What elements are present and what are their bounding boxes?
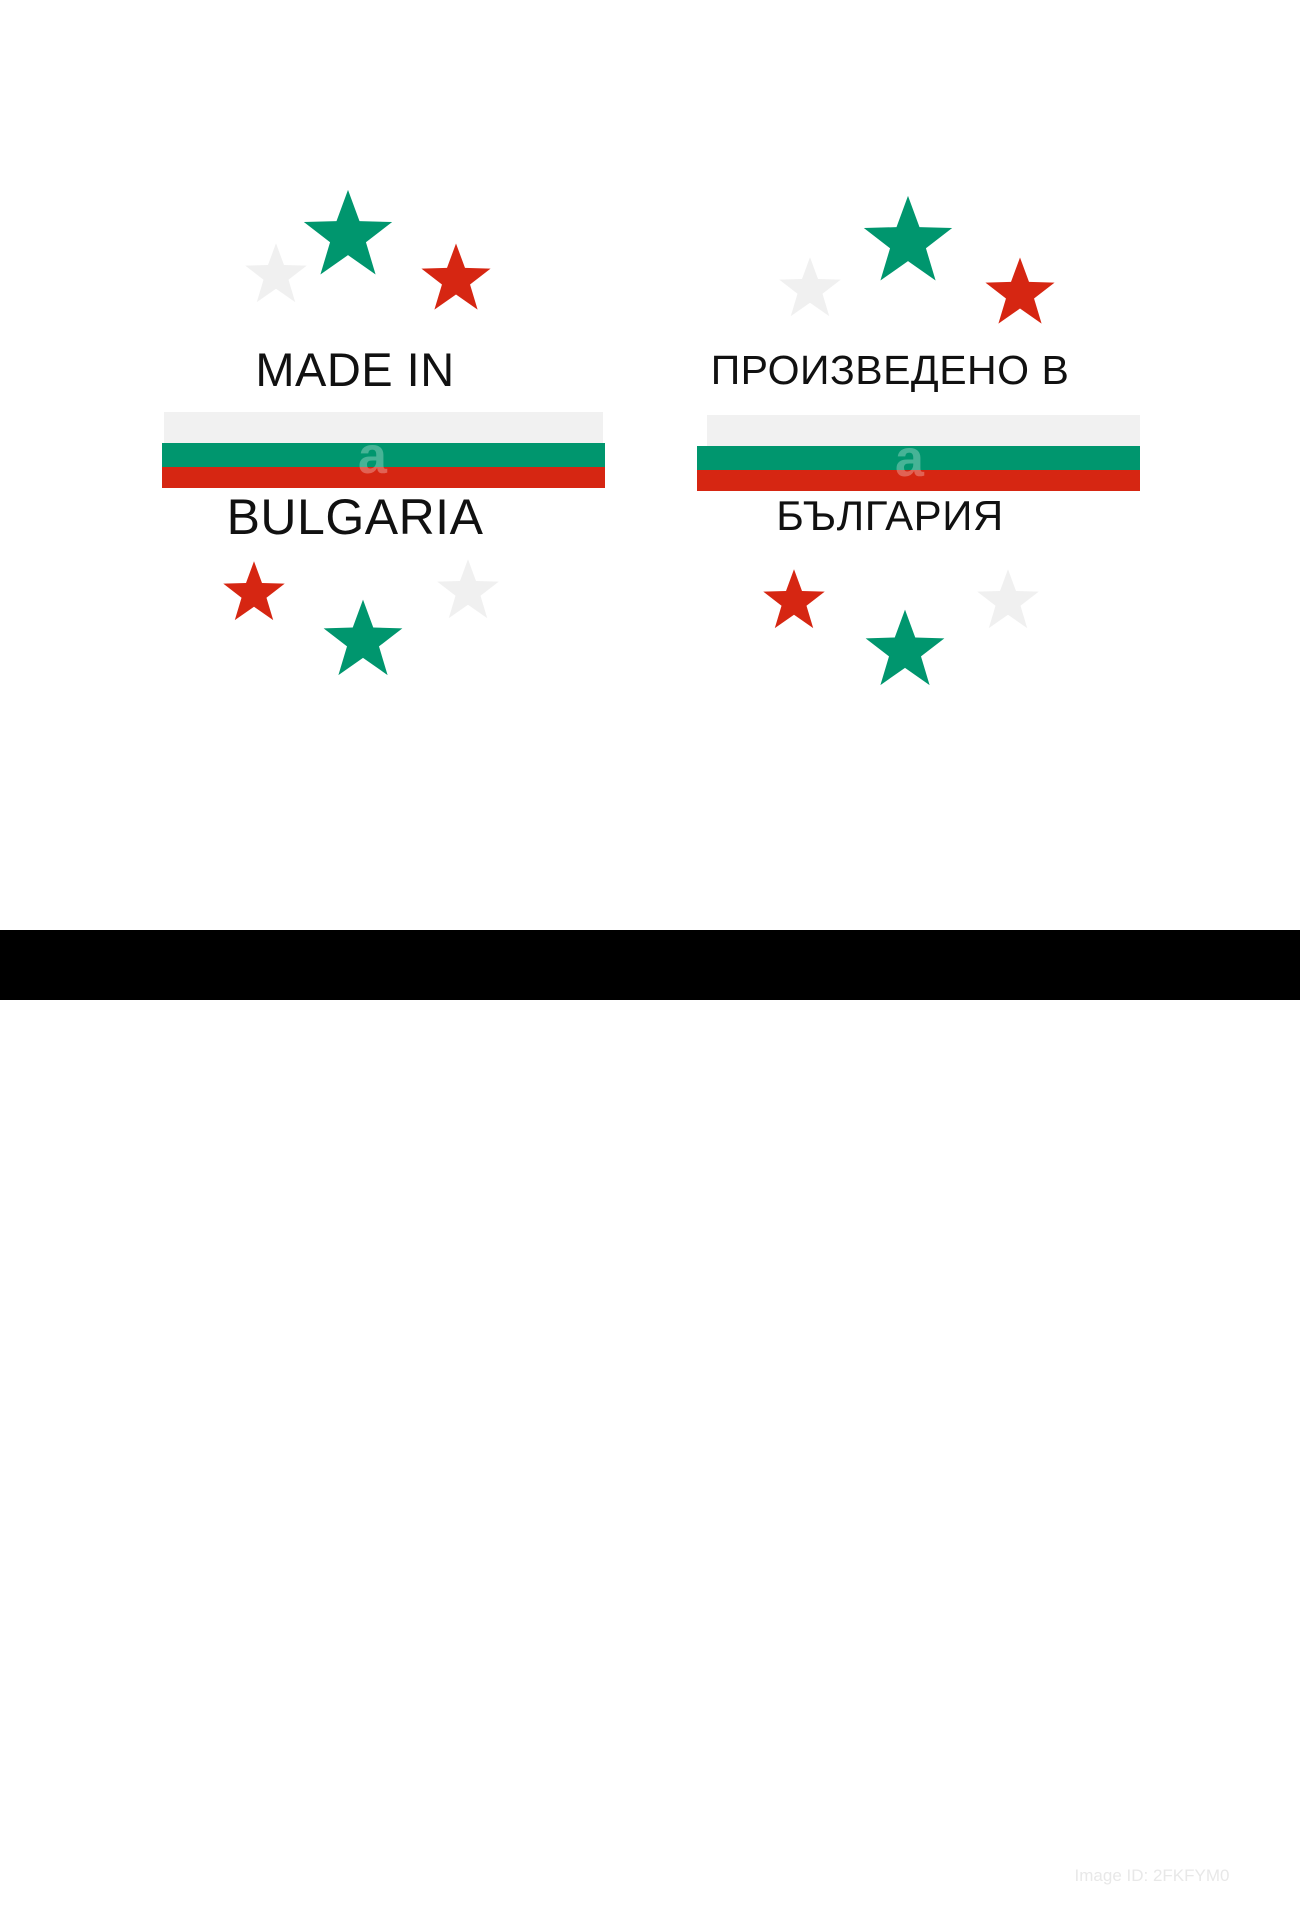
badge-inner: MADE IN a BULGARIA <box>100 180 670 720</box>
badge-inner: ПРОИЗВЕДЕНО В a БЪЛГАРИЯ <box>640 180 1210 720</box>
star-bottom-green-icon <box>322 598 404 680</box>
star-bottom-ghost-icon <box>436 558 500 622</box>
star-bottom-green-icon <box>864 608 946 690</box>
badge-made-in-bulgaria-bulgarian: ПРОИЗВЕДЕНО В a БЪЛГАРИЯ <box>640 180 1210 720</box>
badge-line-bottom: BULGARIA <box>100 492 610 542</box>
alamy-website-url: www.alamy.com <box>1022 1887 1282 1911</box>
bulgaria-flag-bar: a <box>697 415 1140 491</box>
star-top-ghost-icon <box>244 242 308 306</box>
bulgaria-flag-bar: a <box>162 412 605 488</box>
star-bottom-red-icon <box>762 568 826 632</box>
footer-right-block: Image ID: 2FKFYM0 www.alamy.com <box>1022 1866 1282 1911</box>
badge-line-bottom: БЪЛГАРИЯ <box>640 495 1140 537</box>
star-bottom-ghost-icon <box>976 568 1040 632</box>
alamy-watermark-letter: a <box>895 433 924 485</box>
star-top-green-icon <box>302 188 394 280</box>
star-top-red-icon <box>984 256 1056 328</box>
badge-line-top: MADE IN <box>100 346 610 393</box>
star-top-ghost-icon <box>778 256 842 320</box>
badge-made-in-bulgaria-english: MADE IN a BULGARIA <box>100 180 670 720</box>
badge-line-top: ПРОИЗВЕДЕНО В <box>640 350 1140 391</box>
stock-photo-canvas: MADE IN a BULGARIA <box>0 0 1300 930</box>
alamy-footer-bar: alamy Image ID: 2FKFYM0 www.alamy.com <box>0 930 1300 1000</box>
star-top-red-icon <box>420 242 492 314</box>
star-top-green-icon <box>862 194 954 286</box>
alamy-logo: alamy <box>44 1864 162 1918</box>
star-bottom-red-icon <box>222 560 286 624</box>
image-id-label: Image ID: 2FKFYM0 <box>1022 1866 1282 1886</box>
alamy-watermark-letter: a <box>358 430 387 482</box>
